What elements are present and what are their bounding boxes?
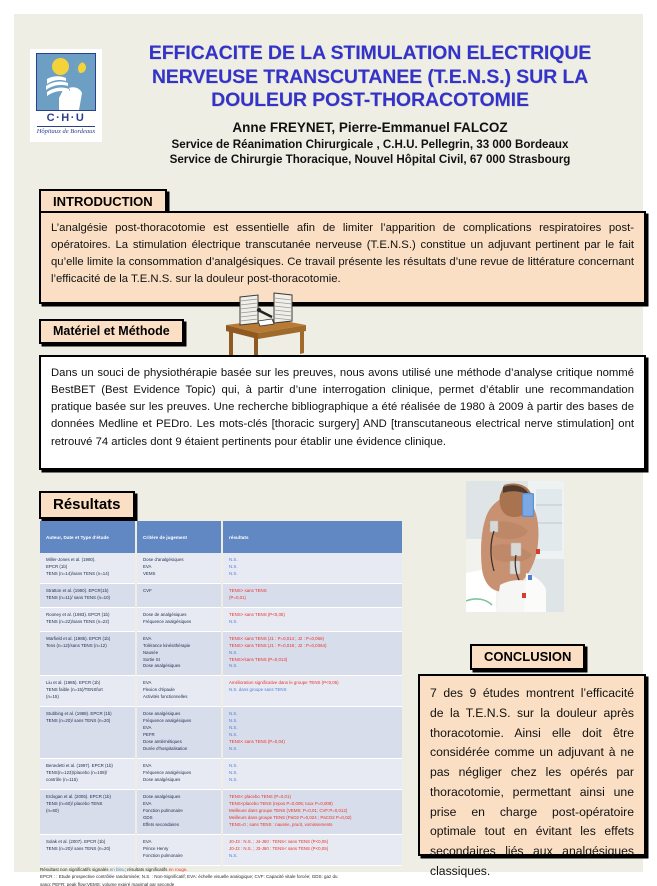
footnote-part-a: Résultast non significatifs signalés bbox=[40, 867, 110, 872]
footnote-line-3: sang; PEFR: peak flow;VEMS: volume expir… bbox=[40, 881, 410, 886]
study-line: TENS (n=11)/ sans TENS (n=10) bbox=[46, 595, 131, 602]
result-line: J0-J2 : N.S. ; J3-J60 : TENS< sans TENS … bbox=[229, 846, 398, 853]
criteria-line: Sortie SI bbox=[143, 657, 217, 664]
criteria-line: EVA bbox=[143, 680, 217, 687]
result-line: N.S. bbox=[229, 557, 398, 564]
patient-photo-art bbox=[466, 481, 564, 612]
result-line: TENS> sans TENS (J1 : P=0,018 ; J2 : P=0… bbox=[229, 643, 398, 650]
column-header-study: Auteur, Date et Type d'étude bbox=[40, 521, 136, 553]
table-footnote: Résultast non significatifs signalés en … bbox=[40, 866, 410, 886]
affiliation-line-1: Service de Réanimation Chirurgicale , C.… bbox=[172, 138, 569, 151]
cell-results: Amélioration significative dans le group… bbox=[222, 676, 402, 707]
cell-results: N.S.N.S.N.S. bbox=[222, 759, 402, 790]
study-line: TENS(n=123)/placebo (n=108)/ bbox=[46, 770, 131, 777]
footnote-part-b: ; résultats significatifs bbox=[125, 867, 169, 872]
cell-study: Warfield et al. (1985). EPCR (1b)Tens (n… bbox=[40, 631, 136, 676]
column-header-criteria: Critère de jugement bbox=[136, 521, 222, 553]
criteria-line: PEFR bbox=[143, 732, 217, 739]
table-row: Stubbing et al. (1988). EPCR (1b)TENS (n… bbox=[40, 707, 402, 759]
cell-criteria: Dose analgésiquesEVAFonction pulmonaireG… bbox=[136, 789, 222, 834]
section-heading-conclusion: CONCLUSION bbox=[470, 644, 585, 670]
result-line: N.S. bbox=[229, 763, 398, 770]
criteria-line: Prince Henry bbox=[143, 846, 217, 853]
study-line: Tens (n=12)/sans TENS (n=12) bbox=[46, 643, 131, 650]
title-block: EFFICACITE DE LA STIMULATION ELECTRIQUE … bbox=[110, 42, 630, 168]
affiliation-line-2: Service de Chirurgie Thoracique, Nouvel … bbox=[170, 153, 571, 166]
poster-header: C·H·U Hôpitaux de Bordeaux EFFICACITE DE… bbox=[14, 24, 643, 184]
section-heading-resultats: Résultats bbox=[39, 491, 135, 519]
cell-study: Stubbing et al. (1988). EPCR (1b)TENS (n… bbox=[40, 707, 136, 759]
criteria-line: Fréquence analgésiques bbox=[143, 619, 217, 626]
result-line: N.S. bbox=[229, 732, 398, 739]
result-line: TENS> sans TENS bbox=[229, 588, 398, 595]
cell-criteria: EVATolérance kinésithérapieNauséeSortie … bbox=[136, 631, 222, 676]
result-line: TENS>/sans TENS (P=0,013) bbox=[229, 657, 398, 664]
result-line: N.S. bbox=[229, 718, 398, 725]
methode-text: Dans un souci de physiothérapie basée su… bbox=[51, 365, 634, 451]
chu-logo-art-icon bbox=[36, 53, 96, 111]
result-line: Amélioration significative dans le group… bbox=[229, 680, 398, 687]
criteria-line: Effets secondaires bbox=[143, 822, 217, 829]
cell-results: TENS> sans TENS(P=0,01) bbox=[222, 583, 402, 607]
result-line: N.S. dans groupe sans TENS bbox=[229, 687, 398, 694]
introduction-panel: L’analgésie post-thoracotomie est essent… bbox=[39, 211, 646, 304]
footnote-part-c: . bbox=[186, 867, 187, 872]
result-line: TENS< placebo TENS (P=0,01) bbox=[229, 794, 398, 801]
chu-logo-subtitle: Hôpitaux de Bordeaux bbox=[37, 128, 96, 135]
study-line: (n=15) bbox=[46, 694, 131, 701]
result-line: Meilleurs dans groupe TENS (PaO2 P=0,024… bbox=[229, 815, 398, 822]
cell-criteria: EVAPrince HenryFonction pulmonaire bbox=[136, 834, 222, 865]
criteria-line: Flexion d'épaule bbox=[143, 687, 217, 694]
criteria-line: Fréquence analgésiques bbox=[143, 770, 217, 777]
cell-criteria: EVAFlexion d'épauleActivités fonctionnel… bbox=[136, 676, 222, 707]
cell-criteria: CVF bbox=[136, 583, 222, 607]
cell-study: Liu et al. (1985). EPCR (1b)TENS faible … bbox=[40, 676, 136, 707]
introduction-text: L’analgésie post-thoracotomie est essent… bbox=[51, 220, 634, 289]
chu-logo: C·H·U Hôpitaux de Bordeaux bbox=[30, 49, 102, 142]
footnote-line-1: Résultast non significatifs signalés en … bbox=[40, 866, 410, 873]
study-line: contrôle (n=115) bbox=[46, 777, 131, 784]
table-row: Warfield et al. (1985). EPCR (1b)Tens (n… bbox=[40, 631, 402, 676]
table-header-row: Auteur, Date et Type d'étude Critère de … bbox=[40, 521, 402, 553]
criteria-line: CVF bbox=[143, 588, 217, 595]
criteria-line: Dose de analgésiques bbox=[143, 612, 217, 619]
criteria-line: EVA bbox=[143, 839, 217, 846]
cell-results: J0-J3 : N.S. ; J4-J60 : TENS< sans TENS … bbox=[222, 834, 402, 865]
cell-results: N.S.N.S.N.S. bbox=[222, 553, 402, 583]
patient-tens-photo bbox=[466, 481, 564, 612]
criteria-line: EVA bbox=[143, 763, 217, 770]
cell-criteria: EVAFréquence analgésiquesDose analgésiqu… bbox=[136, 759, 222, 790]
criteria-line: EVA bbox=[143, 564, 217, 571]
chu-logo-name: C·H·U bbox=[47, 113, 86, 124]
cell-results: TENS< sans TENS (J1 : P=0,014 ; J2 : P=0… bbox=[222, 631, 402, 676]
table-row: Liu et al. (1985). EPCR (1b)TENS faible … bbox=[40, 676, 402, 707]
result-line: N.S. bbox=[229, 777, 398, 784]
authors-line: Anne FREYNET, Pierre-Emmanuel FALCOZ bbox=[110, 120, 630, 135]
criteria-line: Fonction pulmonaire bbox=[143, 853, 217, 860]
study-line: TENS faible (n=15)/TENSfort bbox=[46, 687, 131, 694]
column-header-results: résultats bbox=[222, 521, 402, 553]
cell-results: TENS> sans TENS (P<0,05)N.S. bbox=[222, 607, 402, 631]
result-line: N.S. bbox=[229, 853, 398, 860]
chu-logo-rule bbox=[37, 126, 95, 127]
title-line-2: NERVEUSE TRANSCUTANEE (T.E.N.S.) SUR LA bbox=[152, 66, 588, 88]
result-line: TENS=0 ; sans TENS : nausée, prurit, vom… bbox=[229, 822, 398, 829]
study-line: Rooney et al. (1983). EPCR (1b) bbox=[46, 612, 131, 619]
criteria-line: VEMS bbox=[143, 571, 217, 578]
affiliations: Service de Réanimation Chirurgicale , C.… bbox=[110, 137, 630, 168]
cell-results: TENS< placebo TENS (P=0,01)TENS<placebo … bbox=[222, 789, 402, 834]
result-line: TENS< sans TENS (J1 : P=0,014 ; J2 : P=0… bbox=[229, 636, 398, 643]
criteria-line: Activités fonctionnelles bbox=[143, 694, 217, 701]
result-line: TENS< sans TENS (P=0,04) bbox=[229, 739, 398, 746]
study-line: TENS (n=22)/sans TENS (n=22) bbox=[46, 619, 131, 626]
study-line: Benedetti et al. (1997). EPCR (1b) bbox=[46, 763, 131, 770]
footnote-line-2: EPCR : : Etude prospective contrôlée ran… bbox=[40, 873, 410, 880]
table-row: Miller-Jones et al. (1980).EPCR (1b)TENS… bbox=[40, 553, 402, 583]
criteria-line: EVA bbox=[143, 636, 217, 643]
footnote-blue: en bleu bbox=[110, 867, 125, 872]
criteria-line: Dose analgésiques bbox=[143, 711, 217, 718]
cell-study: Solak et al. (2007). EPCR (1b)TENS (n=20… bbox=[40, 834, 136, 865]
cell-study: Stratton et al. (1980). EPCR(1b)TENS (n=… bbox=[40, 583, 136, 607]
criteria-line: Dose analgésiques bbox=[143, 794, 217, 801]
hand-icon bbox=[43, 70, 87, 110]
result-line: N.S. bbox=[229, 725, 398, 732]
study-line: Stubbing et al. (1988). EPCR (1b) bbox=[46, 711, 131, 718]
criteria-line: Dose antiémétiques bbox=[143, 739, 217, 746]
result-line: N.S. bbox=[229, 770, 398, 777]
result-line: N.S. bbox=[229, 571, 398, 578]
criteria-line: Fonction pulmonaire bbox=[143, 808, 217, 815]
cell-study: Rooney et al. (1983). EPCR (1b)TENS (n=2… bbox=[40, 607, 136, 631]
title-line-3: DOULEUR POST-THORACOTOMIE bbox=[211, 89, 529, 111]
criteria-line: Dose analgésiques bbox=[143, 663, 217, 670]
cell-results: N.S.N.S.N.S.N.S.TENS< sans TENS (P=0,04)… bbox=[222, 707, 402, 759]
criteria-line: EVA bbox=[143, 725, 217, 732]
study-line: Liu et al. (1985). EPCR (1b) bbox=[46, 680, 131, 687]
page-title: EFFICACITE DE LA STIMULATION ELECTRIQUE … bbox=[110, 42, 630, 113]
criteria-line: Fréquence analgésiques bbox=[143, 718, 217, 725]
study-line: Solak et al. (2007). EPCR (1b) bbox=[46, 839, 131, 846]
title-line-1: EFFICACITE DE LA STIMULATION ELECTRIQUE bbox=[149, 42, 591, 64]
cell-criteria: Dose de analgésiquesFréquence analgésiqu… bbox=[136, 607, 222, 631]
result-line: N.S. bbox=[229, 619, 398, 626]
result-line: N.S. bbox=[229, 711, 398, 718]
criteria-line: Tolérance kinésithérapie bbox=[143, 643, 217, 650]
poster-page: C·H·U Hôpitaux de Bordeaux EFFICACITE DE… bbox=[14, 14, 643, 872]
result-line: N.S. bbox=[229, 650, 398, 657]
table-row: Stratton et al. (1980). EPCR(1b)TENS (n=… bbox=[40, 583, 402, 607]
footnote-red: en rouge bbox=[169, 867, 187, 872]
section-heading-methode: Matériel et Méthode bbox=[39, 319, 184, 344]
cell-criteria: Dose analgésiquesFréquence analgésiquesE… bbox=[136, 707, 222, 759]
study-line: (n=60) bbox=[46, 808, 131, 815]
study-line: Stratton et al. (1980). EPCR(1b) bbox=[46, 588, 131, 595]
result-line: (P=0,01) bbox=[229, 595, 398, 602]
result-line: N.S. bbox=[229, 746, 398, 753]
conclusion-text: 7 des 9 études montrent l’efficacité de … bbox=[430, 684, 634, 882]
study-line: TENS (n=60)/ placebo TENS bbox=[46, 801, 131, 808]
result-line: J0-J3 : N.S. ; J4-J60 : TENS< sans TENS … bbox=[229, 839, 398, 846]
study-line: EPCR (1b) bbox=[46, 564, 131, 571]
result-line: N.S. bbox=[229, 663, 398, 670]
study-line: Warfield et al. (1985). EPCR (1b) bbox=[46, 636, 131, 643]
methode-panel: Dans un souci de physiothérapie basée su… bbox=[39, 355, 646, 470]
result-line: Meilleure dans groupe TENS (VEMS: P=0,01… bbox=[229, 808, 398, 815]
study-line: Erdogan et al. (2005). EPCR (1b) bbox=[46, 794, 131, 801]
study-line: Miller-Jones et al. (1980). bbox=[46, 557, 131, 564]
cell-study: Benedetti et al. (1997). EPCR (1b)TENS(n… bbox=[40, 759, 136, 790]
criteria-line: Nausée bbox=[143, 650, 217, 657]
poster-root: C·H·U Hôpitaux de Bordeaux EFFICACITE DE… bbox=[0, 0, 657, 886]
cell-study: Erdogan et al. (2005). EPCR (1b)TENS (n=… bbox=[40, 789, 136, 834]
table-row: Rooney et al. (1983). EPCR (1b)TENS (n=2… bbox=[40, 607, 402, 631]
table-row: Benedetti et al. (1997). EPCR (1b)TENS(n… bbox=[40, 759, 402, 790]
conclusion-panel: 7 des 9 études montrent l’efficacité de … bbox=[418, 674, 646, 856]
table-row: Solak et al. (2007). EPCR (1b)TENS (n=20… bbox=[40, 834, 402, 865]
criteria-line: EVA bbox=[143, 801, 217, 808]
result-line: TENS<placebo TENS (repos P=0,005; toux P… bbox=[229, 801, 398, 808]
results-table: Auteur, Date et Type d'étude Critère de … bbox=[40, 521, 402, 866]
result-line: N.S. bbox=[229, 564, 398, 571]
table-row: Erdogan et al. (2005). EPCR (1b)TENS (n=… bbox=[40, 789, 402, 834]
cell-criteria: Dose d'analgésiquesEVAVEMS bbox=[136, 553, 222, 583]
criteria-line: Durée d'hospitalisation bbox=[143, 746, 217, 753]
cell-study: Miller-Jones et al. (1980).EPCR (1b)TENS… bbox=[40, 553, 136, 583]
criteria-line: Dose analgésiques bbox=[143, 777, 217, 784]
study-line: TENS (n=20)/ sans TENS (n=20) bbox=[46, 718, 131, 725]
study-line: TENS (n=14)/sans TENS (n=14) bbox=[46, 571, 131, 578]
criteria-line: GDS bbox=[143, 815, 217, 822]
study-line: TENS (n=20)/ sans TENS (n=20) bbox=[46, 846, 131, 853]
result-line: TENS> sans TENS (P<0,05) bbox=[229, 612, 398, 619]
criteria-line: Dose d'analgésiques bbox=[143, 557, 217, 564]
desk-paper-stacks-icon bbox=[214, 291, 310, 363]
